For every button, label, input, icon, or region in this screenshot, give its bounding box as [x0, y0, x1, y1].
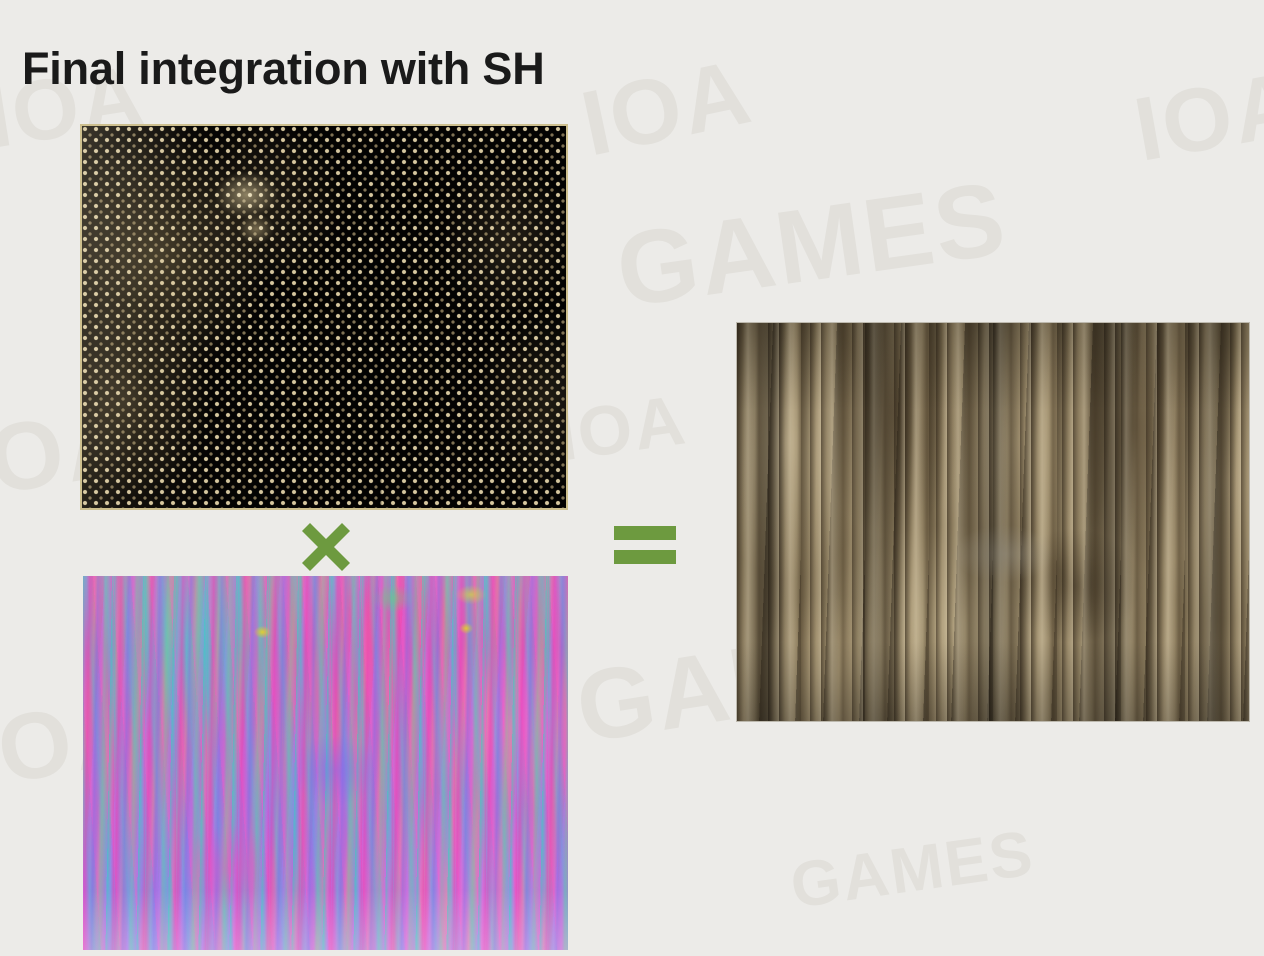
watermark-text: IOA [573, 40, 761, 178]
normal-map-soft-overlay [83, 576, 568, 950]
final-render-image [736, 322, 1250, 722]
multiply-icon [299, 520, 353, 574]
watermark-text: GAMES [786, 815, 1039, 922]
final-render-columns [737, 323, 1249, 721]
presentation-slide: IOA IOA IOA GAMES IOA IOA GAME IOA GAMES… [0, 0, 1264, 956]
watermark-text: IOA [1127, 52, 1264, 182]
equals-bar-bottom [614, 550, 676, 564]
specular-lightmap-image [80, 124, 568, 510]
watermark-text: IOA [551, 379, 691, 476]
equals-bar-top [614, 526, 676, 540]
specular-lightmap-shading [82, 126, 566, 508]
watermark-text: GAMES [610, 159, 1014, 331]
specular-lightmap-seam [377, 126, 382, 508]
normal-map-image [83, 576, 568, 950]
equals-icon [614, 524, 676, 568]
slide-title: Final integration with SH [22, 43, 545, 95]
